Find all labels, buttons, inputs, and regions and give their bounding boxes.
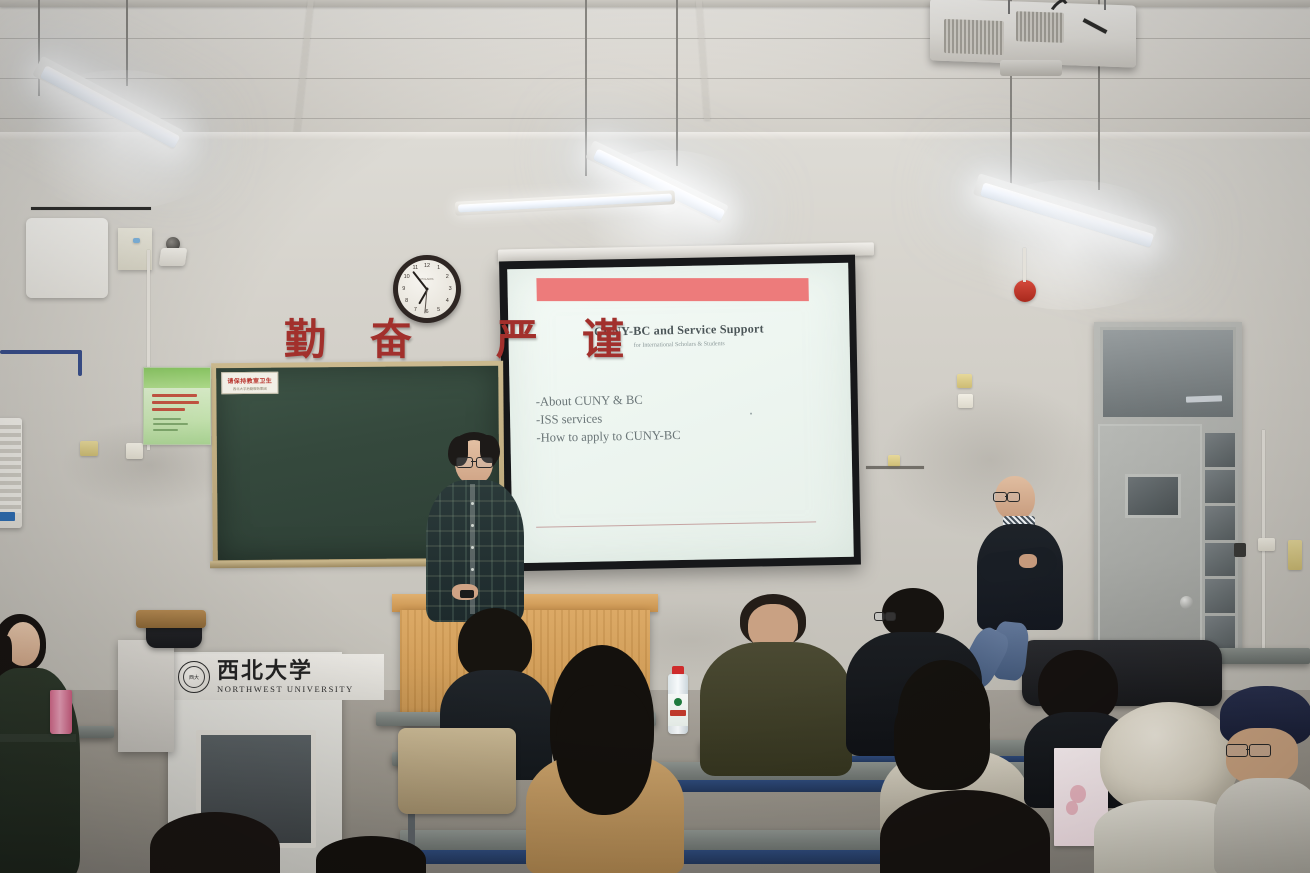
hair <box>880 790 1050 873</box>
presenter <box>418 432 538 622</box>
door-hinge <box>1234 543 1246 557</box>
slide-accent-bar <box>536 278 808 301</box>
presenter-torso <box>426 480 524 622</box>
power-outlet[interactable] <box>957 374 972 388</box>
host-glasses <box>993 492 1019 501</box>
clock-numeral: 5 <box>437 307 440 313</box>
clock-numeral: 9 <box>402 286 405 292</box>
door-knob[interactable] <box>1180 596 1193 609</box>
clock-numeral: 12 <box>424 263 430 269</box>
chair <box>136 610 206 628</box>
classroom-scene: CUNY-BC and Service Support for Internat… <box>0 0 1310 873</box>
clock-numeral: 2 <box>446 274 449 280</box>
wall-motto: 勤 奋 严 谨 <box>284 306 624 367</box>
audience-member <box>1218 686 1310 873</box>
power-outlet[interactable] <box>1288 540 1302 570</box>
air-conditioner <box>0 418 22 528</box>
classroom-notice-sign: 请保持教室卫生 西北大学后勤服务集团 <box>221 372 278 394</box>
power-outlet[interactable] <box>80 441 98 456</box>
power-outlet[interactable] <box>126 443 143 459</box>
host-standing <box>965 476 1075 676</box>
wall-pipe <box>0 350 82 354</box>
hair <box>150 812 280 873</box>
wall-mounted-panel <box>26 218 108 298</box>
presenter-clicker <box>460 590 474 598</box>
podium-side-cabinet <box>118 640 174 752</box>
university-nameplate: 西大 西北大学 NORTHWEST UNIVERSITY <box>170 654 384 700</box>
motto-char-1: 勤 <box>284 306 326 367</box>
notice-sign-subtext: 西北大学后勤服务集团 <box>233 385 267 390</box>
classroom-door[interactable] <box>1098 424 1202 652</box>
clock-numeral: 8 <box>405 298 408 304</box>
audience-member <box>530 645 680 873</box>
notice-sign-headline: 请保持教室卫生 <box>227 375 272 384</box>
slide-bullet-3: -How to apply to CUNY-BC <box>536 426 680 448</box>
hair <box>316 836 426 873</box>
university-name-en: NORTHWEST UNIVERSITY <box>217 685 354 694</box>
fire-alarm-bell <box>1014 280 1036 302</box>
clock-numeral: 3 <box>449 286 452 292</box>
light-switch[interactable] <box>1258 538 1275 551</box>
light-coat <box>1214 778 1310 873</box>
clock-numeral: 4 <box>446 298 449 304</box>
clock-numeral: 1 <box>437 265 440 271</box>
motto-char-4: 谨 <box>582 306 624 367</box>
sidelight-pane <box>1205 506 1235 540</box>
water-bottle <box>666 666 690 734</box>
audience-member <box>150 812 280 873</box>
speaker-enclosure <box>159 248 188 266</box>
clock-brand: POLARIS <box>420 277 433 281</box>
university-name-cn: 西北大学 <box>217 661 354 683</box>
safety-poster <box>143 367 211 445</box>
clock-face: 12 1 2 3 4 5 6 7 8 9 10 11 POLARIS <box>398 260 456 318</box>
audience-member <box>880 790 1050 873</box>
sidelight-pane <box>1205 470 1235 504</box>
audience-member <box>700 594 850 774</box>
clock-numeral: 7 <box>414 307 417 313</box>
door-vision-panel <box>1125 474 1181 518</box>
pink-cup <box>50 690 72 734</box>
door-sidelight <box>1202 430 1238 652</box>
sidelight-pane <box>1205 433 1235 467</box>
clock-numeral: 10 <box>404 274 410 280</box>
presenter-glasses <box>456 457 494 467</box>
clock-numeral: 6 <box>425 309 428 315</box>
motto-char-3: 严 <box>496 306 538 367</box>
door-transom-window <box>1100 327 1236 420</box>
sidelight-pane <box>1205 543 1235 577</box>
university-seal-icon: 西大 <box>178 661 210 693</box>
handbag <box>398 728 516 814</box>
olive-jacket <box>700 642 852 776</box>
slide-footer-rule <box>536 521 816 527</box>
audience-member <box>0 614 86 873</box>
wall-clock: 12 1 2 3 4 5 6 7 8 9 10 11 POLARIS <box>393 255 461 323</box>
power-outlet[interactable] <box>958 394 973 408</box>
transom-reflection <box>1186 395 1222 402</box>
sidelight-pane <box>1205 579 1235 613</box>
audience-member <box>316 836 426 873</box>
